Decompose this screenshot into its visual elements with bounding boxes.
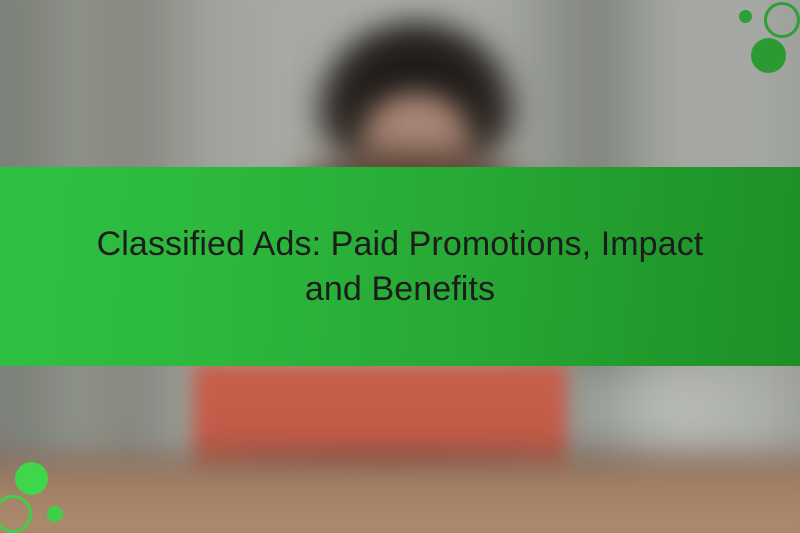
page-title: Classified Ads: Paid Promotions, Impact … <box>70 222 730 312</box>
title-band: Classified Ads: Paid Promotions, Impact … <box>0 167 800 366</box>
bottom-left-large-dot-icon <box>15 462 48 495</box>
wooden-table-surface <box>0 452 800 533</box>
top-right-small-dot-icon <box>739 10 752 23</box>
banner-image: Classified Ads: Paid Promotions, Impact … <box>0 0 800 533</box>
top-right-large-dot-icon <box>751 38 786 73</box>
top-right-ring-icon <box>764 2 800 38</box>
bottom-left-small-dot-icon <box>47 506 63 522</box>
